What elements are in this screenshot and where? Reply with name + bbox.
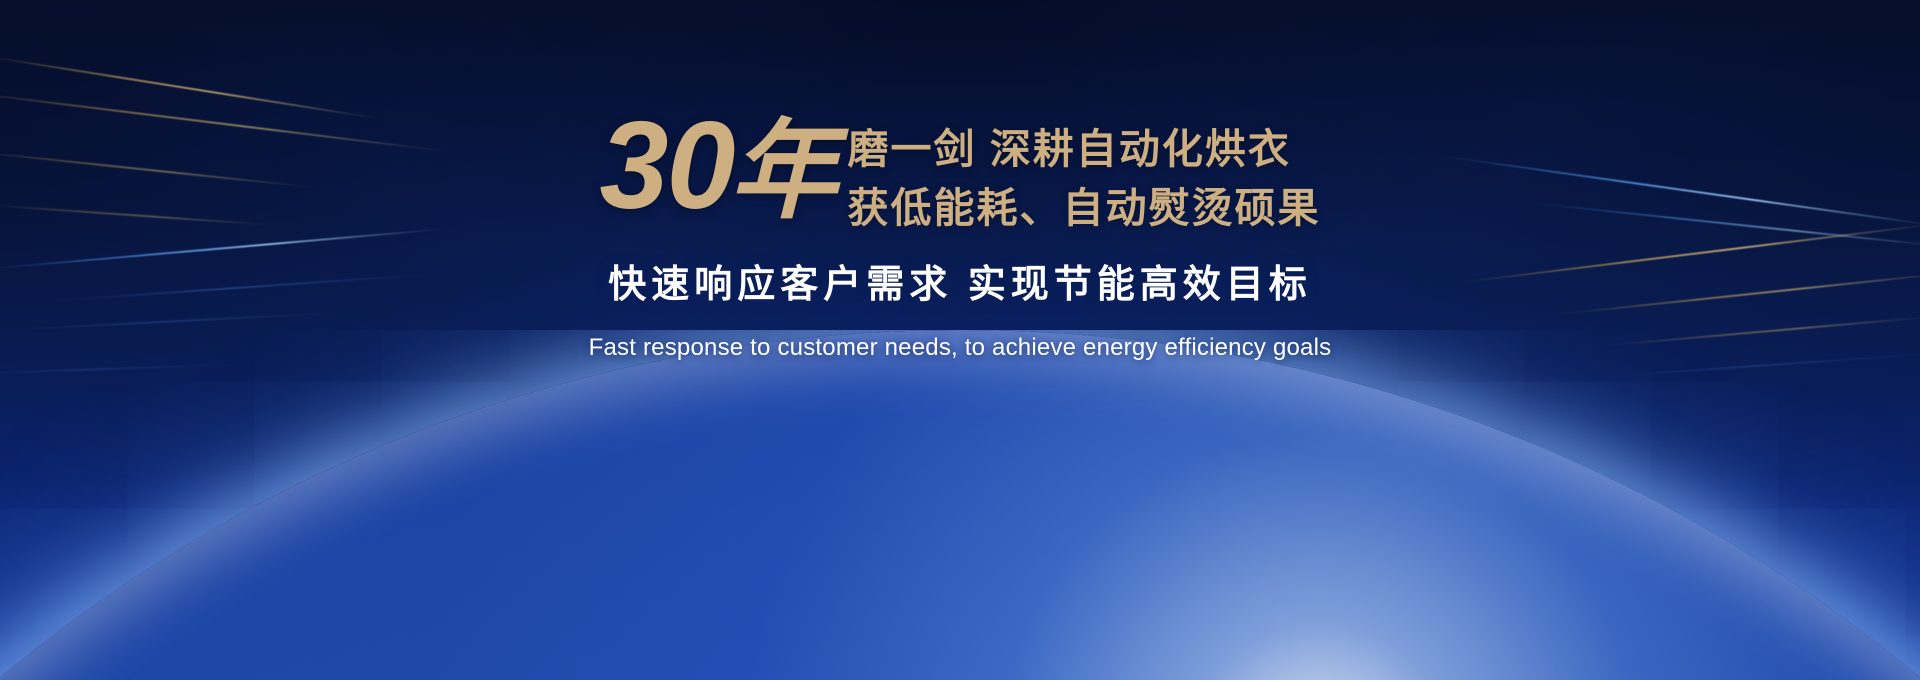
years-badge: 30 年 (600, 108, 838, 226)
gold-headline-line-2: 获低能耗、自动熨烫硕果 (847, 179, 1320, 238)
subheadline-english: Fast response to customer needs, to achi… (589, 334, 1332, 362)
years-unit-character: 年 (729, 120, 837, 223)
gold-headline-line-1: 磨一剑 深耕自动化烘衣 (847, 120, 1320, 179)
gold-headline-lines: 磨一剑 深耕自动化烘衣 获低能耗、自动熨烫硕果 (847, 108, 1320, 239)
banner-content: 30 年 磨一剑 深耕自动化烘衣 获低能耗、自动熨烫硕果 快速响应客户需求 实现… (0, 108, 1920, 362)
subheadline-chinese: 快速响应客户需求 实现节能高效目标 (608, 253, 1312, 308)
promo-banner: 30 年 磨一剑 深耕自动化烘衣 获低能耗、自动熨烫硕果 快速响应客户需求 实现… (0, 0, 1920, 680)
years-number: 30 (600, 108, 734, 226)
headline-row: 30 年 磨一剑 深耕自动化烘衣 获低能耗、自动熨烫硕果 (600, 108, 1321, 239)
